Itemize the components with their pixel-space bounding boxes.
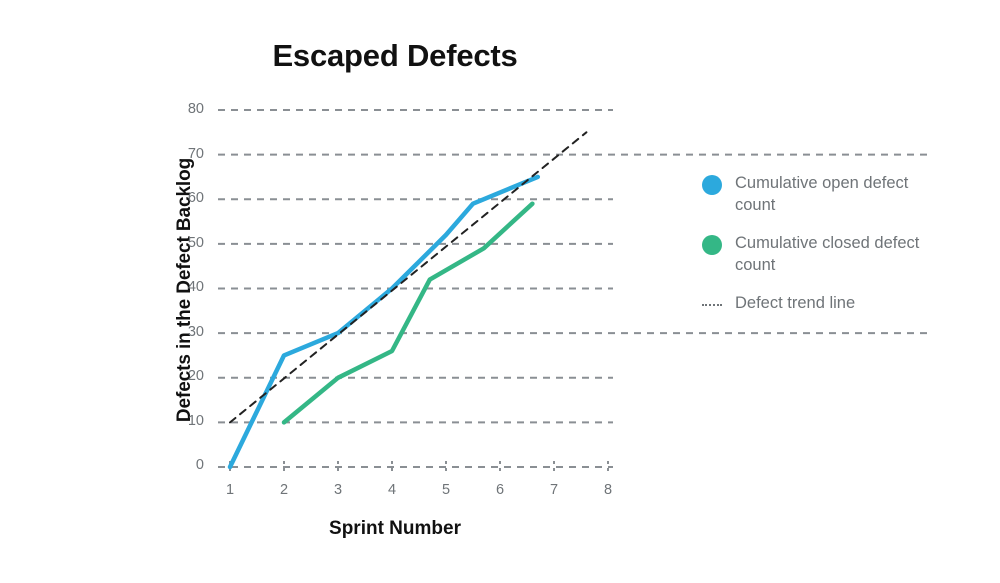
series-line-1 (284, 204, 532, 423)
legend-label-open: Cumulative open defect count (735, 172, 920, 216)
legend-marker-dash-trend (702, 295, 722, 315)
legend-marker-circle-open (702, 175, 722, 195)
legend-label-trend: Defect trend line (735, 292, 855, 314)
legend-item-trend[interactable]: Defect trend line (702, 292, 952, 315)
legend-label-closed: Cumulative closed defect count (735, 232, 920, 276)
legend-item-open[interactable]: Cumulative open defect count (702, 172, 952, 216)
chart-figure: Escaped Defects Defects in the Defect Ba… (0, 0, 1000, 583)
legend: Cumulative open defect count Cumulative … (702, 172, 952, 331)
series-line-2 (230, 132, 586, 422)
series-line-0 (230, 177, 538, 467)
series-layer (230, 132, 586, 467)
legend-item-closed[interactable]: Cumulative closed defect count (702, 232, 952, 276)
legend-marker-circle-closed (702, 235, 722, 255)
